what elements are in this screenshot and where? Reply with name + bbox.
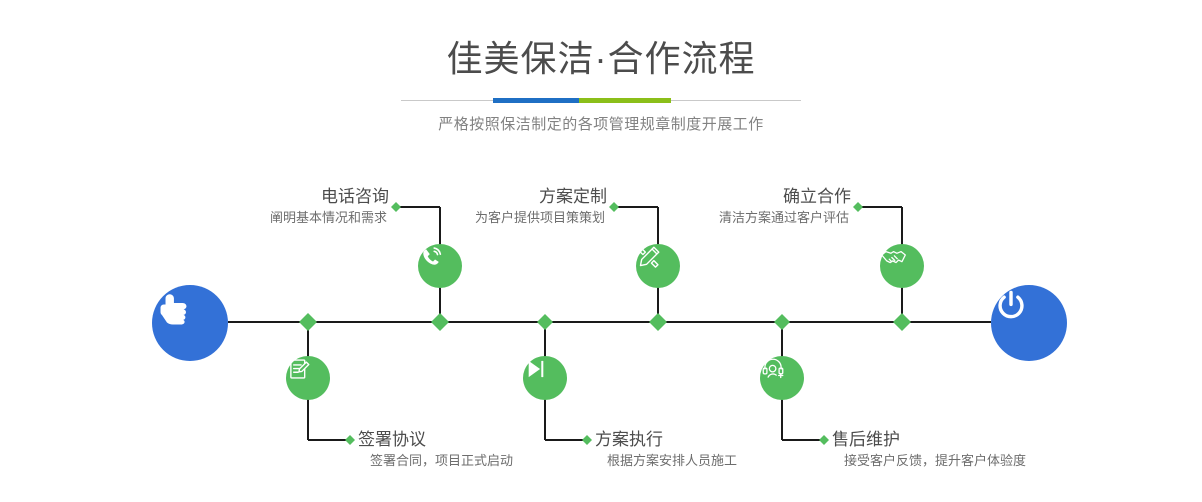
step-title-4: 方案执行 — [595, 429, 737, 451]
step-title-5: 确立合作 — [620, 186, 851, 208]
step-title-3: 方案定制 — [380, 186, 607, 208]
step-label-3: 方案定制 为客户提供项目策策划 — [380, 186, 607, 227]
step-title-6: 售后维护 — [832, 429, 1026, 451]
step-icon-2[interactable] — [286, 356, 330, 400]
step-icon-4[interactable] — [523, 356, 567, 400]
step-desc-4: 根据方案安排人员施工 — [595, 451, 737, 470]
flow-end-node[interactable] — [991, 285, 1067, 361]
step-desc-2: 签署合同，项目正式启动 — [358, 451, 513, 470]
step-label-6: 售后维护 接受客户反馈，提升客户体验度 — [832, 429, 1026, 470]
step-label-4: 方案执行 根据方案安排人员施工 — [595, 429, 737, 470]
step-label-2: 签署协议 签署合同，项目正式启动 — [358, 429, 513, 470]
step-desc-5: 清洁方案通过客户评估 — [620, 208, 851, 227]
step-label-5: 确立合作 清洁方案通过客户评估 — [620, 186, 851, 227]
step-desc-3: 为客户提供项目策策划 — [380, 208, 607, 227]
flow-connectors — [0, 0, 1202, 502]
step-icon-3[interactable] — [636, 244, 680, 288]
flow-start-node[interactable] — [152, 285, 228, 361]
step-desc-1: 阐明基本情况和需求 — [150, 208, 389, 227]
step-icon-1[interactable] — [418, 244, 462, 288]
step-desc-6: 接受客户反馈，提升客户体验度 — [832, 451, 1026, 470]
step-title-1: 电话咨询 — [150, 186, 389, 208]
step-icon-5[interactable] — [880, 244, 924, 288]
cooperation-process-infographic: 佳美保洁·合作流程 严格按照保洁制定的各项管理规章制度开展工作 — [0, 0, 1202, 502]
step-icon-6[interactable] — [760, 356, 804, 400]
step-title-2: 签署协议 — [358, 429, 513, 451]
step-label-1: 电话咨询 阐明基本情况和需求 — [150, 186, 389, 227]
process-flow: 电话咨询 阐明基本情况和需求 方案定制 为客户提供项目策策划 确立合作 清洁方案… — [0, 0, 1202, 502]
